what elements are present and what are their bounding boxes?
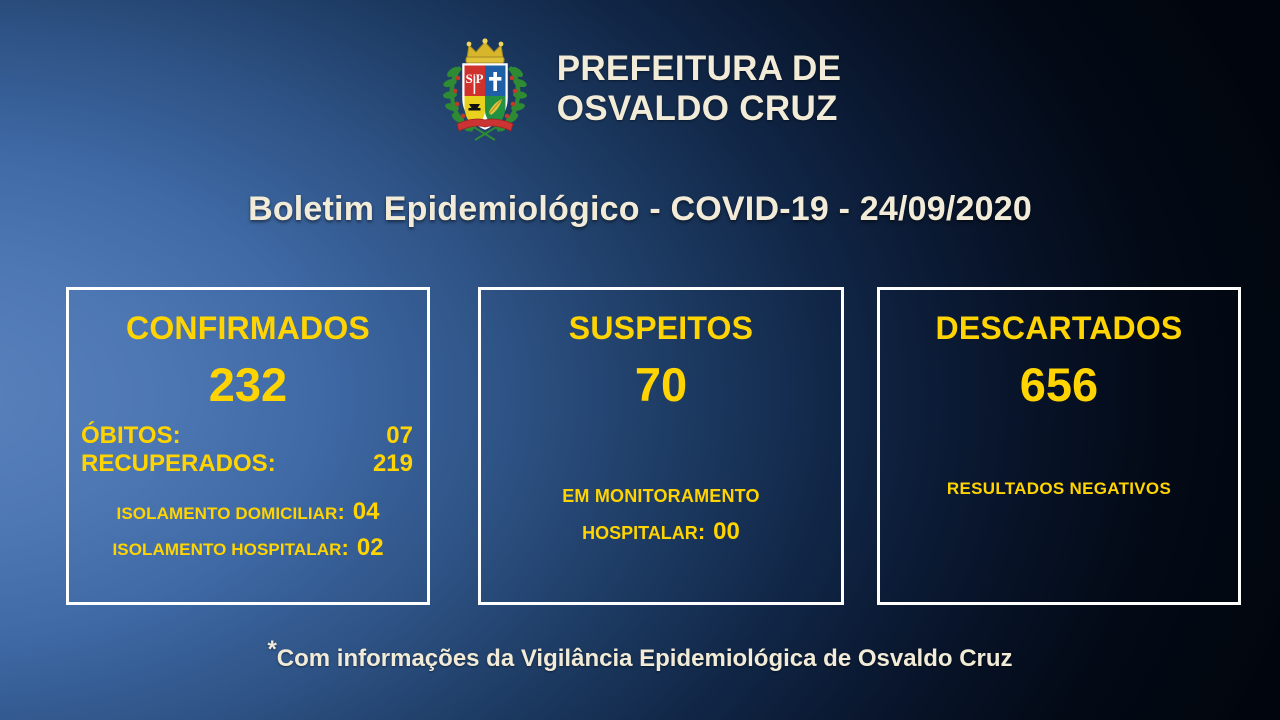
- stat-row-isolamento-domiciliar-value: 04: [353, 494, 380, 530]
- bulletin-page: S|P PREFEITURA DE OSVALDO CRUZ: [0, 0, 1280, 720]
- stat-row-isolamento-domiciliar: ISOLAMENTO DOMICILIAR : 04: [85, 494, 411, 530]
- suspeitos-note-colon: :: [698, 519, 705, 545]
- stat-row-isolamento-domiciliar-label: ISOLAMENTO DOMICILIAR: [117, 501, 338, 527]
- suspeitos-note-line2: HOSPITALAR : 00: [481, 518, 841, 546]
- footer-asterisk: *: [267, 636, 276, 663]
- card-descartados-title: DESCARTADOS: [880, 312, 1238, 344]
- stat-row-recuperados-label: RECUPERADOS:: [81, 450, 276, 478]
- suspeitos-note-line1: EM MONITORAMENTO: [481, 486, 841, 507]
- stat-row-recuperados-value: 219: [359, 450, 413, 478]
- osvaldo-cruz-coat-of-arms-icon: S|P: [439, 36, 531, 142]
- stat-row-isolamento-hospitalar: ISOLAMENTO HOSPITALAR : 02: [85, 530, 411, 566]
- card-confirmados-value: 232: [69, 361, 427, 408]
- confirmados-small-rows: ISOLAMENTO DOMICILIAR : 04 ISOLAMENTO HO…: [69, 494, 427, 566]
- stat-row-isolamento-hospitalar-value: 02: [357, 530, 384, 566]
- page-header: S|P PREFEITURA DE OSVALDO CRUZ: [0, 36, 1280, 142]
- card-descartados: DESCARTADOS 656 RESULTADOS NEGATIVOS: [877, 287, 1241, 605]
- stat-row-recuperados: RECUPERADOS: 219: [81, 450, 413, 478]
- card-suspeitos-title: SUSPEITOS: [481, 312, 841, 344]
- stat-row-obitos-label: ÓBITOS:: [81, 422, 181, 450]
- card-confirmados-title: CONFIRMADOS: [69, 312, 427, 344]
- bulletin-title: Boletim Epidemiológico - COVID-19 - 24/0…: [0, 190, 1280, 229]
- statistics-cards: CONFIRMADOS 232 ÓBITOS: 07 RECUPERADOS: …: [0, 287, 1280, 605]
- card-suspeitos: SUSPEITOS 70 EM MONITORAMENTO HOSPITALAR…: [478, 287, 844, 605]
- card-confirmados: CONFIRMADOS 232 ÓBITOS: 07 RECUPERADOS: …: [66, 287, 430, 605]
- suspeitos-note-value: 00: [713, 518, 740, 546]
- stat-row-obitos: ÓBITOS: 07: [81, 422, 413, 450]
- card-suspeitos-value: 70: [481, 361, 841, 408]
- stat-row-obitos-value: 07: [359, 422, 413, 450]
- footer-source-note: *Com informações da Vigilância Epidemiol…: [0, 645, 1280, 673]
- descartados-note: RESULTADOS NEGATIVOS: [880, 479, 1238, 499]
- organization-title: PREFEITURA DE OSVALDO CRUZ: [557, 49, 842, 128]
- stat-row-isolamento-domiciliar-colon: :: [337, 495, 344, 528]
- suspeitos-note: EM MONITORAMENTO HOSPITALAR : 00: [481, 486, 841, 546]
- suspeitos-note-label: HOSPITALAR: [582, 523, 698, 544]
- stat-row-isolamento-hospitalar-label: ISOLAMENTO HOSPITALAR: [112, 537, 341, 563]
- org-title-line1: PREFEITURA DE: [557, 49, 842, 89]
- confirmados-big-rows: ÓBITOS: 07 RECUPERADOS: 219: [69, 422, 427, 478]
- org-title-line2: OSVALDO CRUZ: [557, 89, 842, 129]
- stat-row-isolamento-hospitalar-colon: :: [342, 531, 349, 564]
- footer-text: Com informações da Vigilância Epidemioló…: [277, 645, 1013, 672]
- card-descartados-value: 656: [880, 361, 1238, 408]
